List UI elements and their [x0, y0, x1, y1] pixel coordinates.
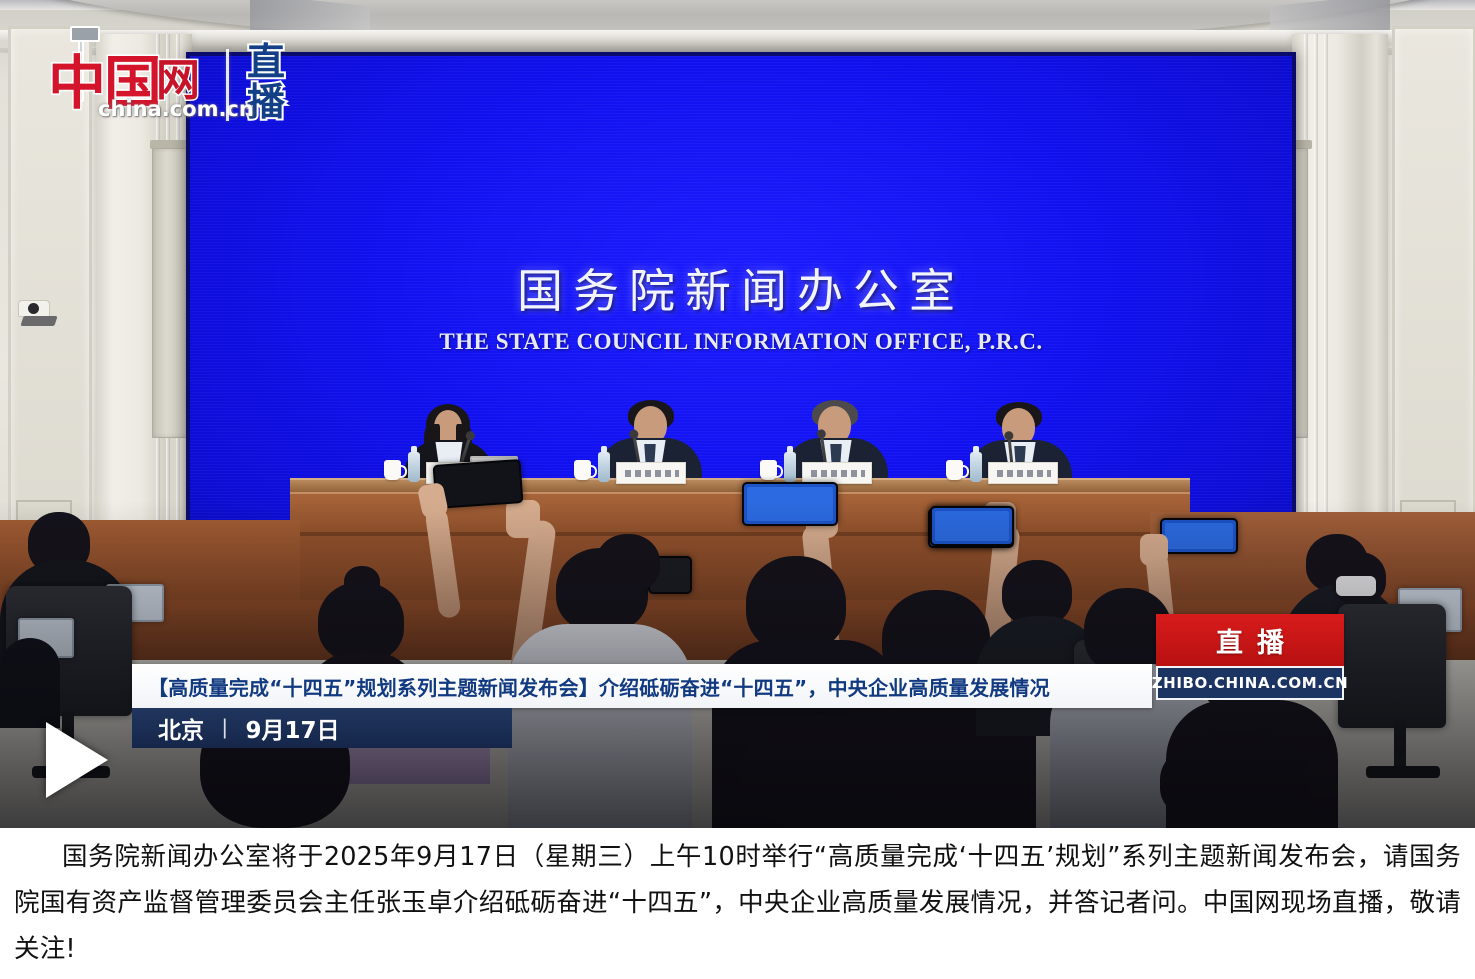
speaker-grille-left	[152, 148, 188, 438]
subbar-separator: |	[222, 716, 227, 740]
live-site-url: ZHIBO.CHINA.COM.CN	[1152, 674, 1349, 692]
channel-watermark: 中国 网 china.com.cn 直播	[48, 34, 285, 130]
nameplate-3	[802, 462, 872, 484]
location-label: 北京	[158, 711, 204, 745]
headline-text: 【高质量完成“十四五”规划系列主题新闻发布会】介绍砥砺奋进“十四五”，中央企业高…	[148, 672, 1050, 701]
date-label: 9月17日	[245, 711, 339, 745]
water-bottle-2	[598, 452, 610, 482]
nameplate-4	[988, 462, 1058, 484]
nameplate-2	[616, 462, 686, 484]
tea-cup-4	[946, 460, 963, 480]
logo-url: china.com.cn	[98, 97, 254, 121]
tea-cup-2	[574, 460, 591, 480]
caption-text: 国务院新闻办公室将于2025年9月17日（星期三）上午10时举行“高质量完成‘十…	[14, 834, 1461, 972]
face-mask-icon	[1336, 576, 1376, 596]
water-bottle-4	[970, 452, 982, 482]
water-bottle-1	[408, 452, 420, 482]
watermark-divider	[226, 49, 229, 121]
play-triangle-icon[interactable]	[46, 722, 108, 798]
security-camera-icon	[18, 300, 60, 328]
lower-third-subbar: 北京 | 9月17日	[132, 708, 512, 748]
live-badge-group[interactable]: 直播 ZHIBO.CHINA.COM.CN	[1156, 614, 1344, 700]
china-net-logo: 中国 网 china.com.cn	[48, 34, 220, 130]
tea-cup-3	[760, 460, 777, 480]
water-bottle-3	[784, 452, 796, 482]
lower-third-headline: 【高质量完成“十四五”规划系列主题新闻发布会】介绍砥砺奋进“十四五”，中央企业高…	[132, 664, 1152, 708]
live-badge[interactable]: 直播	[1156, 614, 1344, 666]
tea-cup-1	[384, 460, 401, 480]
live-site-badge[interactable]: ZHIBO.CHINA.COM.CN	[1156, 666, 1344, 700]
caption-area: 国务院新闻办公室将于2025年9月17日（星期三）上午10时举行“高质量完成‘十…	[0, 828, 1475, 979]
video-player[interactable]: 国务院新闻办公室 THE STATE COUNCIL INFORMATION O…	[0, 0, 1475, 828]
live-badge-label: 直播	[1202, 621, 1298, 660]
page-root: 国务院新闻办公室 THE STATE COUNCIL INFORMATION O…	[0, 0, 1475, 979]
